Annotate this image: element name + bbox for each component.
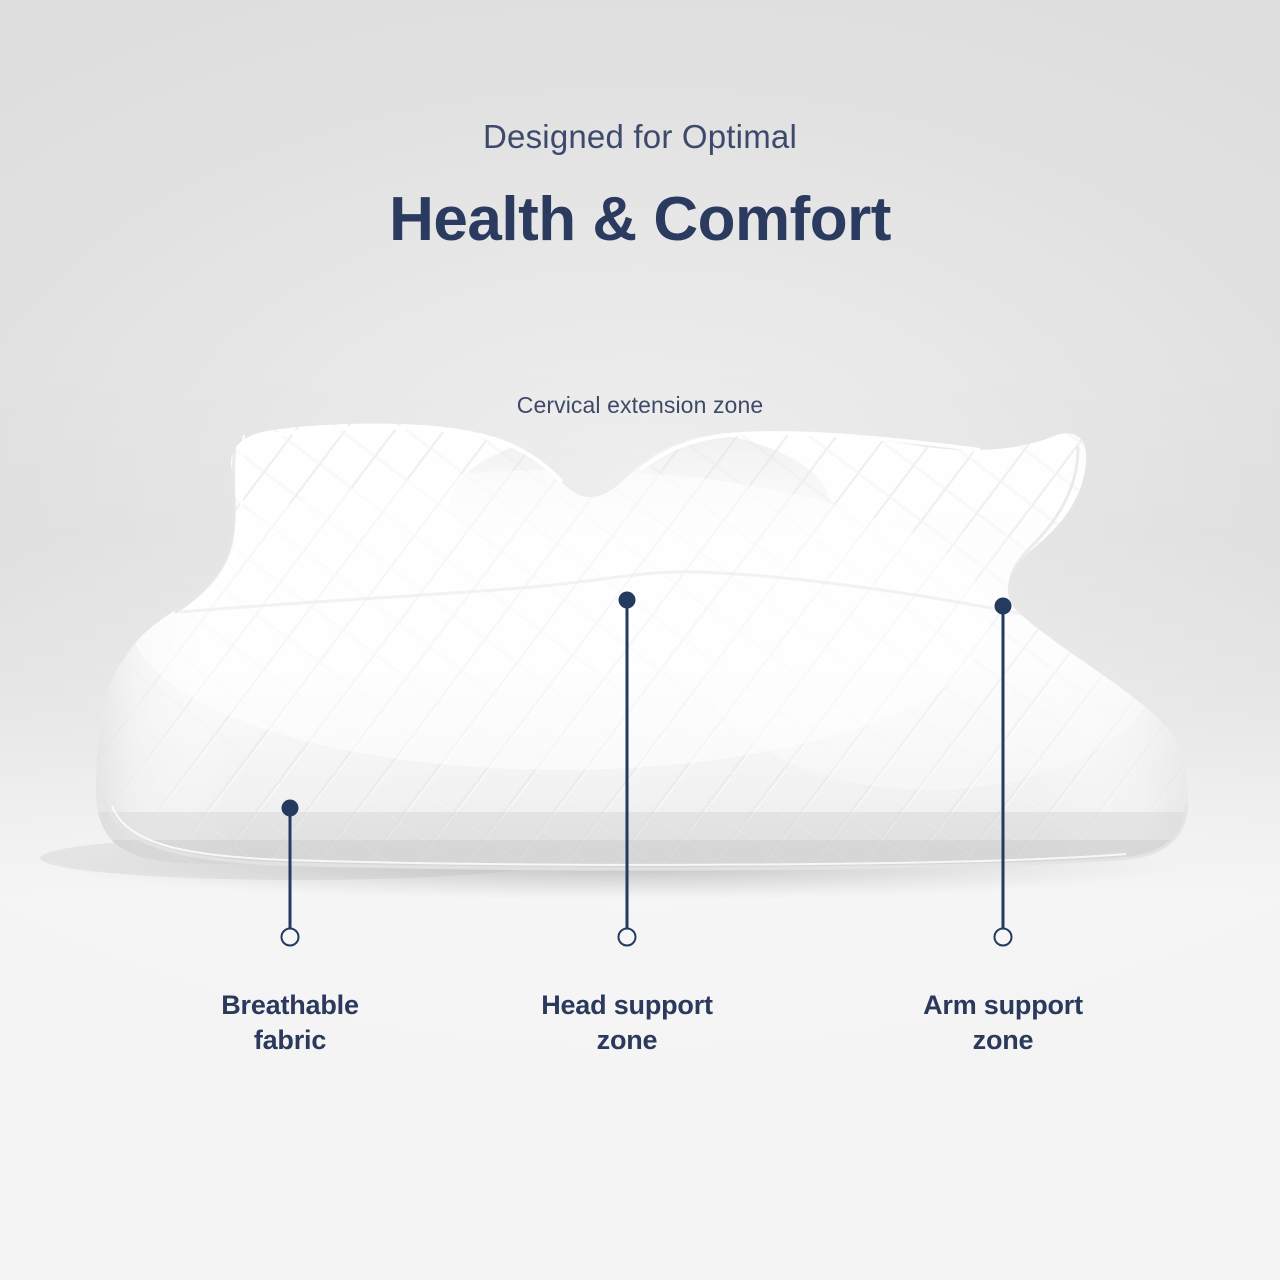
feature-label-head-support-zone: Head support zone [487, 988, 767, 1057]
page-title: Health & Comfort [0, 184, 1280, 255]
feature-label-breathable-fabric: Breathable fabric [150, 988, 430, 1057]
callout-ring-head-support-zone [618, 928, 637, 947]
callout-line-head-support-zone [626, 600, 629, 937]
callout-ring-arm-support-zone [994, 928, 1013, 947]
feature-label-line1: Arm support [863, 988, 1143, 1023]
pillow-body [80, 410, 1210, 880]
callout-line-arm-support-zone [1002, 606, 1005, 937]
callout-ring-breathable-fabric [281, 928, 300, 947]
feature-label-line2: fabric [150, 1023, 430, 1058]
feature-label-line2: zone [487, 1023, 767, 1058]
feature-label-arm-support-zone: Arm support zone [863, 988, 1143, 1057]
feature-label-line1: Head support [487, 988, 767, 1023]
eyebrow-text: Designed for Optimal [0, 118, 1280, 156]
feature-label-line1: Breathable [150, 988, 430, 1023]
header-block: Designed for Optimal Health & Comfort [0, 118, 1280, 255]
feature-label-line2: zone [863, 1023, 1143, 1058]
callout-line-breathable-fabric [289, 808, 292, 937]
cervical-extension-zone-label: Cervical extension zone [0, 392, 1280, 419]
